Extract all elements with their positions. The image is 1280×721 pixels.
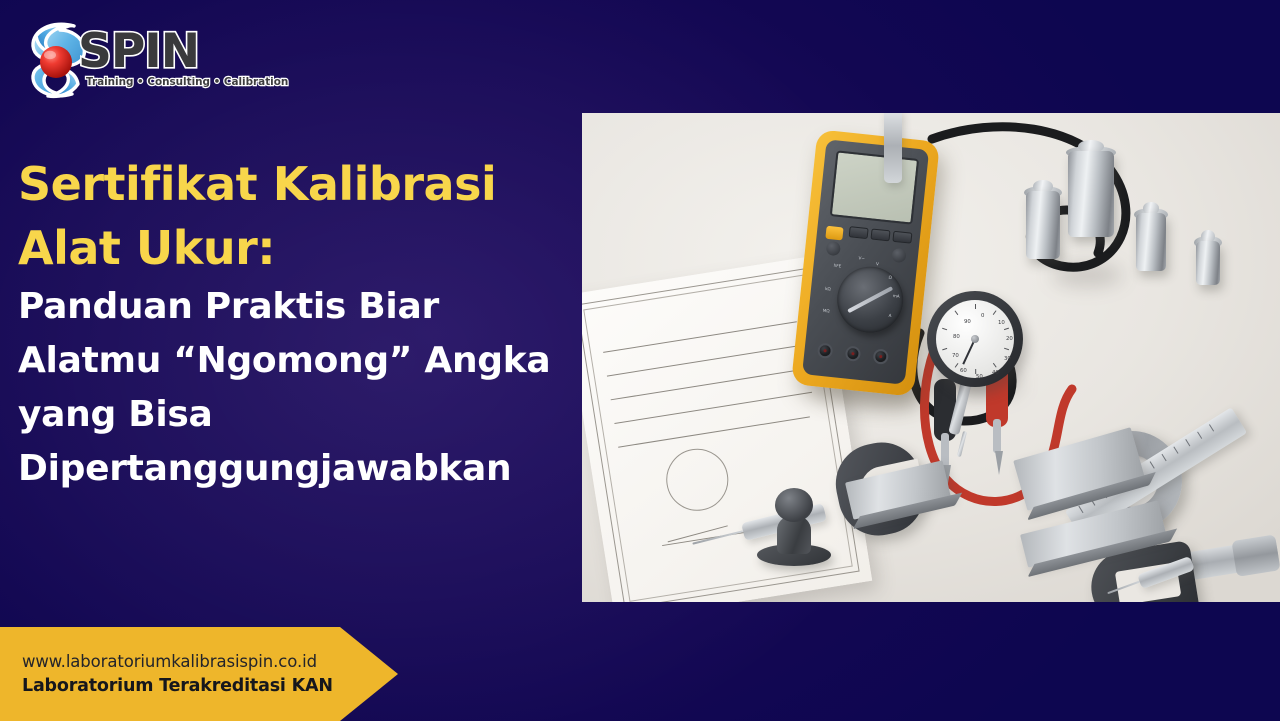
rubber-stamp (757, 488, 831, 566)
dial-pointer (847, 286, 893, 313)
dial-indicator-gauge: 0 10 20 30 40 50 60 70 80 90 (927, 291, 1023, 387)
multimeter-rotary-dial (834, 263, 907, 336)
calibration-weight-small (1136, 213, 1166, 271)
gauge-dial-face: 0 10 20 30 40 50 60 70 80 90 (936, 300, 1014, 378)
calibration-weight-large (1068, 151, 1114, 237)
logo-wordmark: SPIN Training • Consulting • Calibration (78, 28, 228, 106)
calibration-tools-photo: V~ V Ω mA A hFE kΩ MΩ (582, 113, 1280, 602)
multimeter-round-button (826, 241, 841, 256)
multimeter-jack-vohm (845, 345, 861, 361)
website-url-text: www.laboratoriumkalibrasispin.co.id (22, 650, 398, 674)
calibration-weight-medium (1026, 191, 1060, 259)
accreditation-tagline-text: Laboratorium Terakreditasi KAN (22, 674, 398, 698)
subheadline-line-2: Alatmu “Ngomong” Angka (18, 334, 588, 388)
headline-line-2: Alat Ukur: (18, 216, 588, 280)
headline-line-1: Sertifikat Kalibrasi (18, 152, 588, 216)
gauge-hub (971, 335, 979, 343)
multimeter-lcd-display (830, 150, 919, 224)
logo-tagline-text: Training • Consulting • Calibration (86, 76, 288, 88)
headline-block: Sertifikat Kalibrasi Alat Ukur: Panduan … (18, 152, 588, 496)
multimeter-power-button (825, 226, 843, 241)
multimeter-jack-10a (873, 348, 889, 364)
multimeter-jack-com (817, 343, 833, 359)
multimeter-round-button (891, 248, 906, 263)
subheadline-line-1: Panduan Praktis Biar (18, 280, 588, 334)
multimeter-function-button (849, 226, 869, 239)
multimeter-function-button (892, 231, 912, 244)
micrometer-thimble (1231, 534, 1280, 576)
website-banner[interactable]: www.laboratoriumkalibrasispin.co.id Labo… (0, 627, 398, 721)
logo-word-text: SPIN (78, 28, 228, 75)
probe-pin-tool-vertical (884, 113, 902, 183)
stamp-knob (775, 488, 813, 522)
subheadline-line-3: yang Bisa (18, 388, 588, 442)
calibration-weight-tiny (1196, 241, 1220, 285)
multimeter-function-button (870, 228, 890, 241)
subheadline-line-4: Dipertanggungjawabkan (18, 442, 588, 496)
spin-logo[interactable]: SPIN Training • Consulting • Calibration (22, 14, 222, 108)
